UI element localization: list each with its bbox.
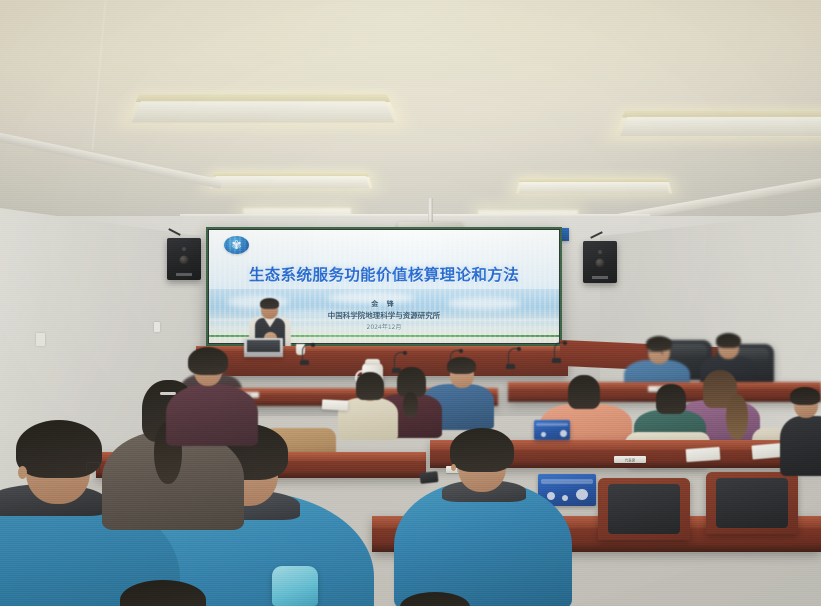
attendee-ear (18, 466, 27, 479)
light-switch-center[interactable] (154, 322, 160, 332)
attendee-glasses (647, 351, 663, 355)
attendee-ponytail (726, 394, 748, 440)
attendee-hair (656, 384, 686, 414)
speaker-tweeter (182, 247, 186, 251)
speaker-brand-tag (176, 273, 192, 276)
light-panel-glow (620, 117, 821, 136)
speaker-cone (180, 255, 189, 264)
microphone-head-2 (403, 351, 407, 355)
ceiling-light-panel-2 (615, 110, 821, 136)
attendee-hair (568, 375, 600, 409)
wall-speaker-left (167, 238, 201, 280)
microphone-head-5 (563, 341, 567, 345)
attendee-hair (450, 428, 514, 472)
nameplate-text: 代表席 (625, 457, 635, 462)
attendee-hair (716, 333, 741, 348)
desk-paper-left[interactable] (322, 399, 348, 410)
presenter-hair (260, 298, 279, 309)
empty-chair-right-2[interactable] (706, 472, 798, 534)
tissue-box-strip (536, 423, 568, 426)
ceiling-light-panel-1 (126, 94, 400, 123)
desk-phone[interactable] (419, 471, 438, 484)
presenter-laptop (244, 338, 283, 357)
attendee-hair (188, 347, 228, 375)
microphone-head-4 (517, 347, 521, 351)
tissue-box-floral (560, 430, 567, 437)
speaker-tweeter (598, 250, 602, 254)
lecture-hall-photo: 会议 理科学与资源研究所 ✾ 生态系统服务功能价值核算理论和方法 金 锋 中国科… (0, 0, 821, 606)
tissue-box-floral (562, 495, 568, 501)
empty-chair-right-1[interactable] (598, 478, 690, 540)
laptop-keyboard (244, 353, 283, 357)
desk-nameplate: 代表席 (614, 456, 646, 463)
attendee-glasses (86, 462, 100, 471)
attendee-ear (451, 464, 456, 471)
tissue-box-floral (547, 492, 555, 500)
attendee-jacket (780, 416, 821, 476)
attendee-ponytail (403, 392, 418, 418)
tissue-box-floral (576, 489, 588, 500)
microphone-head-1 (311, 343, 315, 347)
attendee-jacket (166, 384, 258, 446)
ceiling-light-panel-3 (210, 172, 373, 188)
speaker-brand-tag (592, 276, 608, 279)
attendee-hair (790, 387, 820, 405)
desk-paper-center[interactable] (686, 447, 721, 462)
attendee-hair (646, 336, 672, 351)
attendee-hair (447, 357, 476, 374)
speaker-cone (596, 258, 605, 267)
light-switch-left[interactable] (36, 333, 45, 346)
chair-cushion (716, 478, 788, 529)
light-panel-glow (132, 101, 394, 123)
microphone-head-3 (459, 349, 463, 353)
water-bottle[interactable] (272, 566, 318, 606)
wall-speaker-right (583, 241, 617, 283)
tissue-box-floral (541, 432, 546, 437)
tissue-box-back (534, 420, 570, 440)
laptop-screen (247, 340, 280, 352)
light-panel-glow (519, 182, 669, 193)
ceiling-light-panel-4 (516, 178, 672, 193)
chair-cushion (608, 484, 680, 535)
tissue-box-strip (541, 479, 592, 483)
light-panel-glow (213, 176, 369, 188)
thermos-lid (365, 359, 380, 365)
projector-mount-pole (428, 198, 433, 224)
attendee-hair (356, 372, 384, 400)
